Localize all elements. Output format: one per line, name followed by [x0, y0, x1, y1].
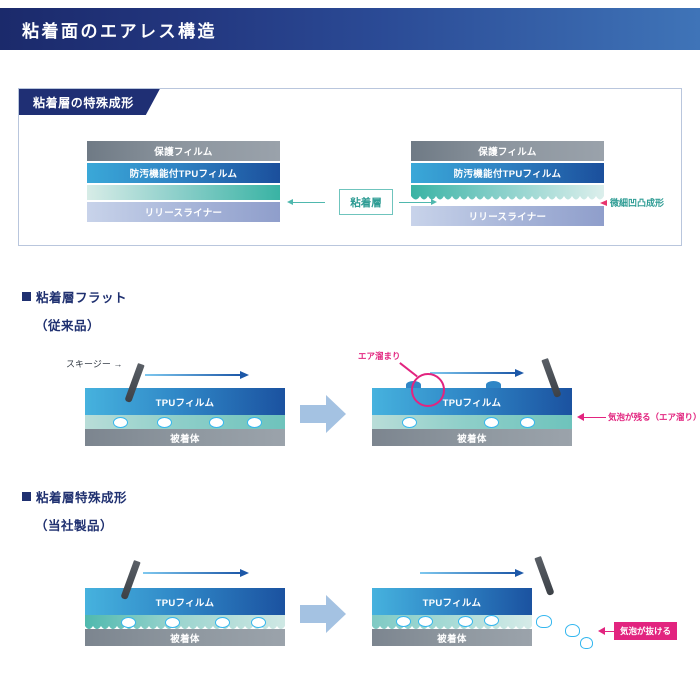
air-bubble [402, 417, 417, 428]
squeegee-note: スキージー → [66, 357, 122, 370]
air-bubble [251, 617, 266, 628]
callout-arrow-left-line [291, 202, 325, 203]
tpu-film-layer: TPUフィルム [85, 388, 285, 415]
layer-label: リリースライナー [145, 205, 223, 219]
adhesive-layer-callout-label: 粘着層 [350, 195, 382, 210]
diagram-body: TPUフィルム 被着体 [372, 588, 532, 646]
layer-label: 防汚機能付TPUフィルム [130, 166, 238, 180]
section-textured-subtitle: （当社製品） [35, 515, 127, 534]
air-bubble [484, 417, 499, 428]
special-forming-panel: 粘着層の特殊成形 保護フィルム 防汚機能付TPUフィルム リリースライナー 保護… [18, 88, 682, 246]
escaping-bubble [580, 637, 593, 649]
transition-arrow-icon [300, 393, 346, 435]
tpu-film-label: TPUフィルム [156, 595, 215, 609]
page-header: 粘着面のエアレス構造 [0, 8, 700, 50]
layer-tpu-film: 防汚機能付TPUフィルム [87, 163, 280, 183]
air-bubble [484, 615, 499, 626]
direction-arrow-line [430, 372, 516, 374]
fine-texture-annotation: 微細凹凸成形 [600, 196, 664, 209]
page-title: 粘着面のエアレス構造 [0, 17, 217, 42]
fine-texture-label: 微細凹凸成形 [610, 196, 664, 209]
substrate-label: 被着体 [437, 631, 466, 645]
layer-label: 防汚機能付TPUフィルム [454, 166, 562, 180]
panel-tab: 粘着層の特殊成形 [19, 89, 160, 115]
tpu-film-label: TPUフィルム [156, 395, 215, 409]
air-pocket-label: エア溜まり [358, 350, 401, 362]
left-arrow-icon [600, 200, 607, 206]
section-flat-title: 粘着層フラット [36, 287, 127, 306]
layer-release-liner: リリースライナー [87, 202, 280, 222]
substrate-layer: 被着体 [372, 429, 572, 446]
layer-adhesive-flat [87, 185, 280, 200]
callout-arrow-left-head [287, 199, 293, 205]
layer-protective-film: 保護フィルム [87, 141, 280, 161]
air-bubble [247, 417, 262, 428]
transition-arrow-icon [300, 593, 346, 635]
air-bubble [121, 617, 136, 628]
layer-label: リリースライナー [469, 209, 547, 223]
diagram-body: TPUフィルム 被着体 [85, 388, 285, 446]
air-bubble [113, 417, 128, 428]
section-textured-title: 粘着層特殊成形 [36, 487, 127, 506]
substrate-layer: 被着体 [85, 429, 285, 446]
air-bubble [165, 617, 180, 628]
bullet-square-icon [22, 292, 31, 301]
substrate-layer: 被着体 [85, 629, 285, 646]
tpu-film-layer: TPUフィルム [372, 388, 572, 415]
substrate-label: 被着体 [170, 631, 199, 645]
air-bubble [396, 616, 411, 627]
substrate-layer: 被着体 [372, 629, 532, 646]
air-bubble [458, 616, 473, 627]
air-bubble [209, 417, 224, 428]
direction-arrow-line [420, 572, 516, 574]
callout-arrow-right-head [431, 199, 437, 205]
section-heading-textured: 粘着層特殊成形 （当社製品） [22, 487, 127, 534]
section-flat-subtitle: （従来品） [35, 315, 127, 334]
section-heading-flat: 粘着層フラット （従来品） [22, 287, 127, 334]
tpu-film-layer: TPUフィルム [372, 588, 532, 615]
escaping-bubble [565, 624, 580, 637]
callout-arrow-right-line [399, 202, 433, 203]
layer-stack-left: 保護フィルム 防汚機能付TPUフィルム リリースライナー [87, 141, 280, 224]
diagram-body: TPUフィルム 被着体 [372, 388, 572, 446]
layer-stack-right: 保護フィルム 防汚機能付TPUフィルム リリースライナー [411, 141, 604, 228]
wavy-adhesive-shape [411, 185, 604, 204]
air-bubble [157, 417, 172, 428]
bubble-remains-label: 気泡が残る（エア溜り） [608, 411, 700, 423]
squeegee-tool-icon [534, 556, 554, 596]
tpu-film-label: TPUフィルム [443, 395, 502, 409]
escaping-bubble [536, 615, 552, 628]
layer-label: 保護フィルム [154, 144, 212, 158]
bubble-remains-arrow-head [577, 413, 584, 421]
tpu-film-label: TPUフィルム [423, 595, 482, 609]
direction-arrow-head [515, 569, 524, 577]
layer-release-liner: リリースライナー [411, 206, 604, 226]
air-bubble [520, 417, 535, 428]
panel-tab-label: 粘着層の特殊成形 [33, 94, 134, 111]
bubble-remains-leader-line [584, 417, 606, 419]
adhesive-layer-callout: 粘着層 [339, 189, 393, 215]
layer-tpu-film: 防汚機能付TPUフィルム [411, 163, 604, 183]
air-bubble [418, 616, 433, 627]
bullet-square-icon [22, 492, 31, 501]
air-pocket-highlight-circle [411, 373, 445, 407]
layer-label: 保護フィルム [478, 144, 536, 158]
substrate-label: 被着体 [457, 431, 486, 445]
direction-arrow-head [240, 371, 249, 379]
direction-arrow-line [145, 374, 241, 376]
air-bubble [215, 617, 230, 628]
tpu-film-layer: TPUフィルム [85, 588, 285, 615]
direction-arrow-head [240, 569, 249, 577]
air-pocket-leader-line [400, 362, 418, 377]
layer-protective-film: 保護フィルム [411, 141, 604, 161]
direction-arrow-head [515, 369, 524, 377]
direction-arrow-line [143, 572, 241, 574]
substrate-label: 被着体 [170, 431, 199, 445]
layer-adhesive-textured [411, 185, 604, 204]
bubble-escape-label: 気泡が抜ける [614, 622, 677, 640]
diagram-body: TPUフィルム 被着体 [85, 588, 285, 646]
